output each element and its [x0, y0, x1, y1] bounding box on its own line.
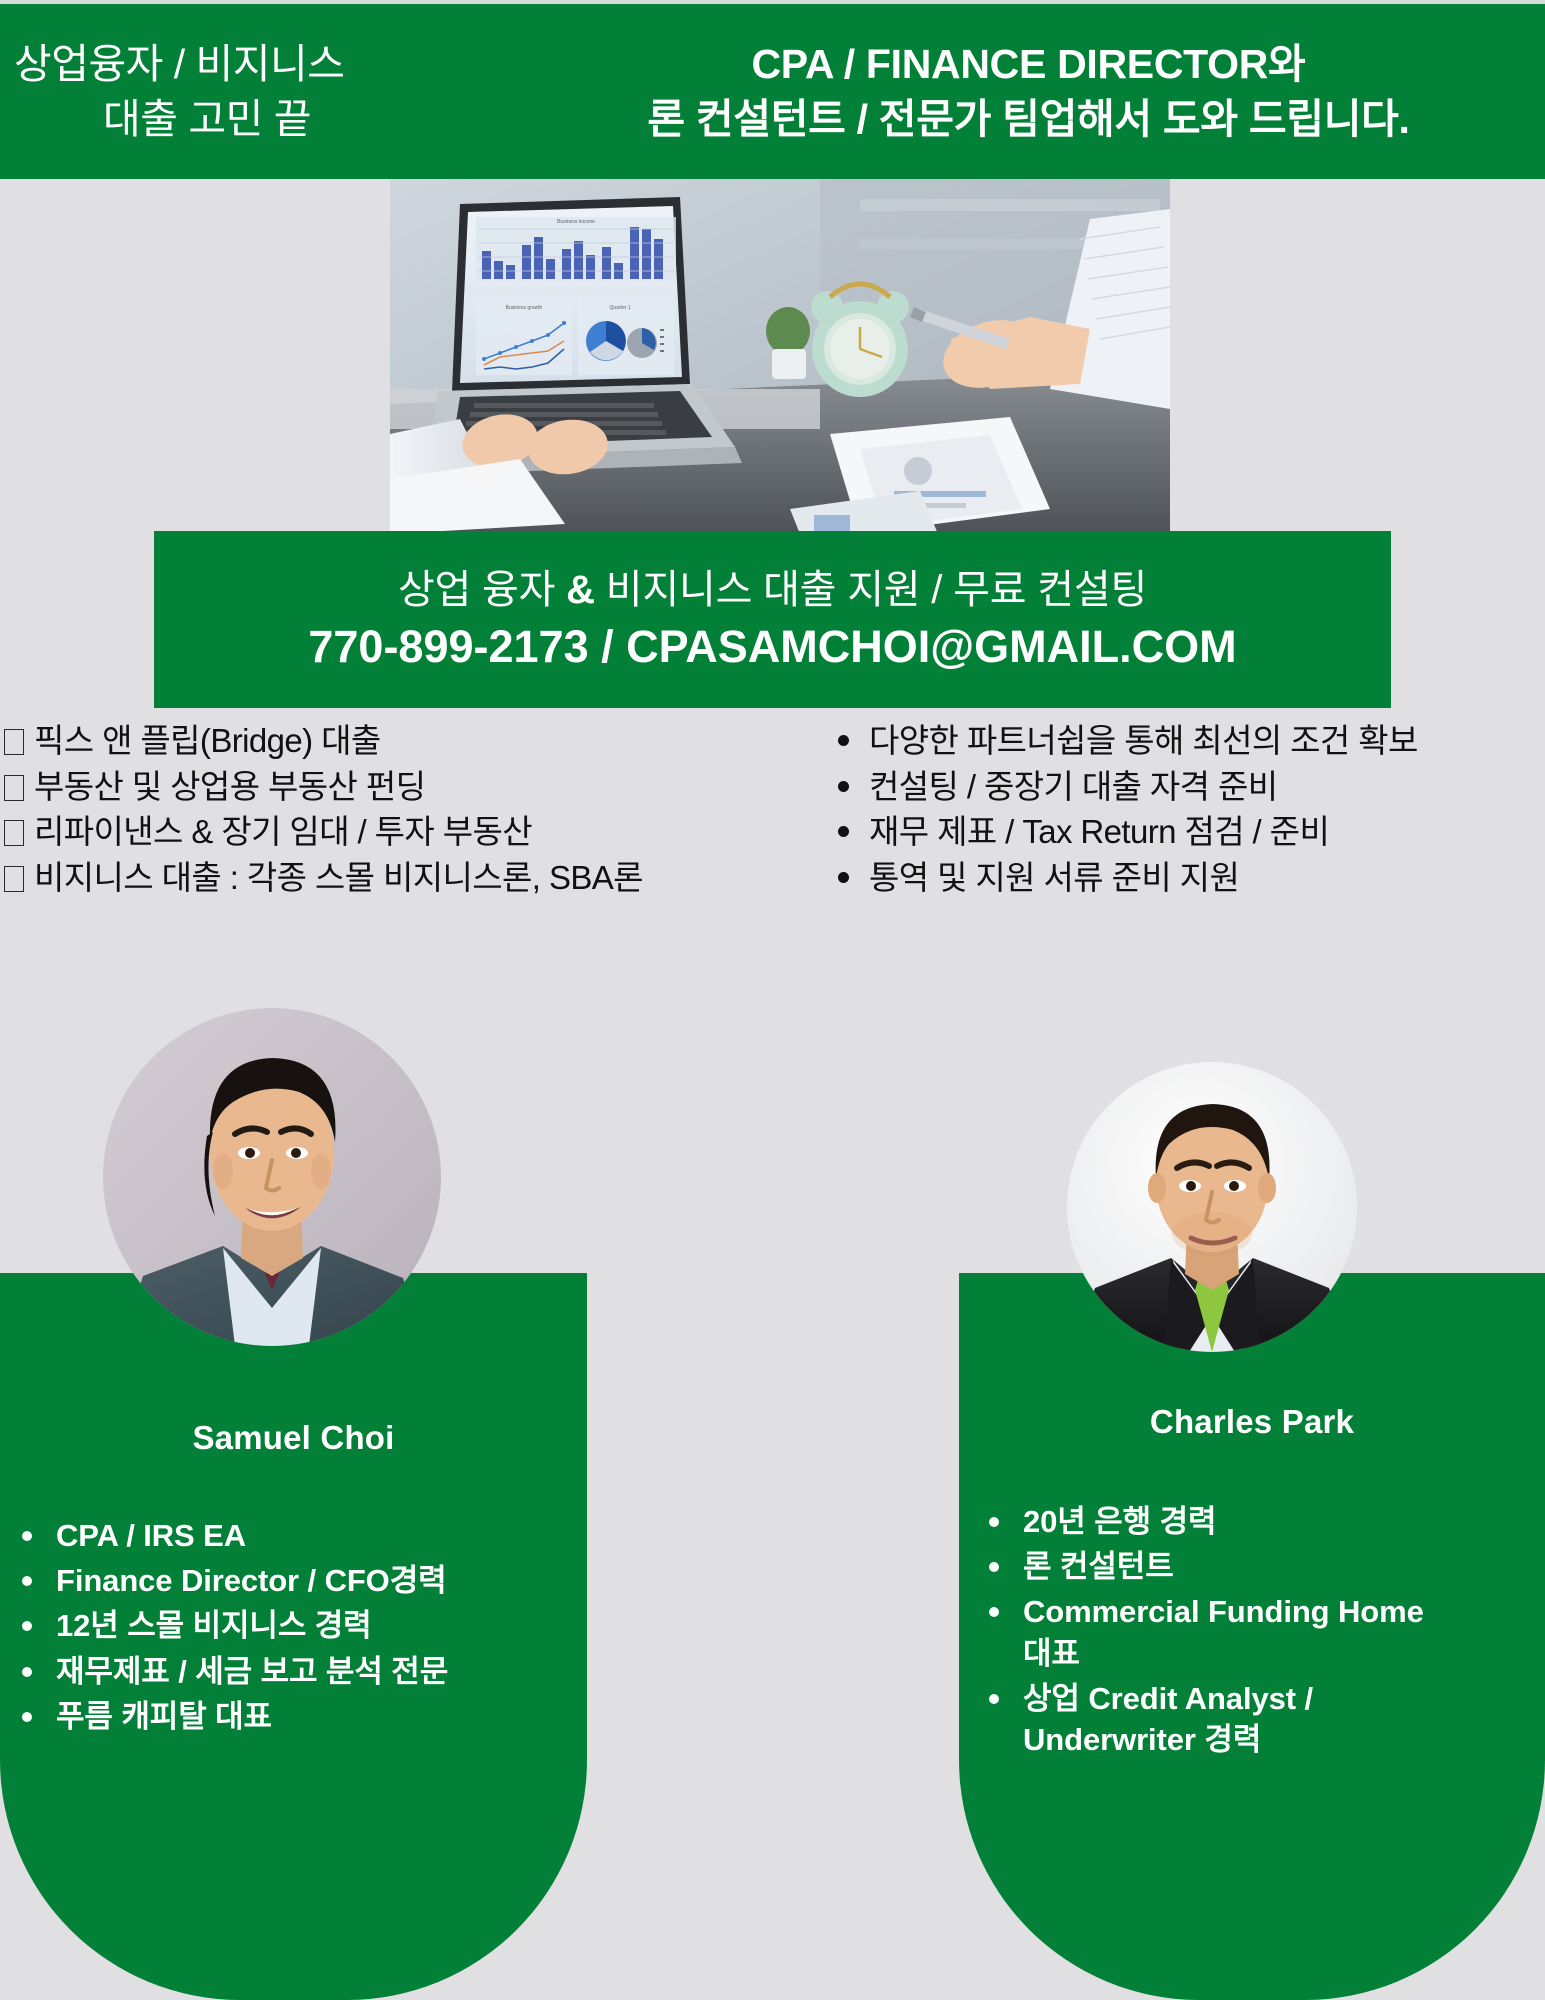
profile-bullet-label: 푸름 캐피탈 대표 — [56, 1696, 272, 1737]
avatar-illustration — [103, 1008, 441, 1346]
checkbox-marker-icon — [4, 729, 24, 755]
profile-bullet-label: 20년 은행 경력 — [1023, 1501, 1216, 1542]
contact-phone-email[interactable]: 770-899-2173 / CPASAMCHOI@GMAIL.COM — [308, 620, 1236, 674]
profile-bullet-label: 재무제표 / 세금 보고 분석 전문 — [56, 1651, 448, 1692]
feature-item-label: 컨설팅 / 중장기 대출 자격 준비 — [869, 764, 1278, 810]
contact-headline-amp: & — [566, 568, 595, 612]
avatar-charles-park — [1067, 1062, 1357, 1352]
header-right-line-1: CPA / FINANCE DIRECTOR와 — [520, 37, 1537, 92]
hero-photo: Business income Business growth Quarter … — [390, 179, 1170, 534]
profile-bullet-label: 12년 스몰 비지니스 경력 — [56, 1605, 372, 1646]
profile-bullet-label: Finance Director / CFO경력 — [56, 1560, 447, 1601]
header-left-headline: 상업융자 / 비지니스 대출 고민 끝 — [0, 37, 520, 146]
checkbox-marker-icon — [4, 866, 24, 892]
checkbox-marker-icon — [4, 820, 24, 846]
bullet-dot-icon — [22, 1667, 32, 1677]
svg-text:Business growth: Business growth — [506, 305, 543, 311]
profile-bullet-label: 상업 Credit Analyst / Underwriter 경력 — [1023, 1678, 1443, 1760]
feature-item: 리파이낸스 & 장기 임대 / 투자 부동산 — [4, 809, 790, 855]
profile-bullet: 상업 Credit Analyst / Underwriter 경력 — [989, 1678, 1545, 1760]
bullet-dot-icon — [838, 781, 849, 792]
profile-card-charles-park: Charles Park 20년 은행 경력 론 컨설턴트 Commercial… — [959, 1273, 1545, 2000]
profile-bullet-label: Commercial Funding Home 대표 — [1023, 1591, 1443, 1673]
contact-headline: 상업 융자 & 비지니스 대출 지원 / 무료 컨설팅 — [398, 566, 1147, 614]
feature-item: 비지니스 대출 : 각종 스몰 비지니스론, SBA론 — [4, 855, 790, 901]
profile-bullet-label: CPA / IRS EA — [56, 1515, 246, 1556]
contact-headline-suffix: 비지니스 대출 지원 / 무료 컨설팅 — [595, 568, 1147, 612]
bullet-dot-icon — [989, 1607, 999, 1617]
profile-bullet-label: 론 컨설턴트 — [1023, 1546, 1174, 1587]
header-right-line-2: 론 컨설턴트 / 전문가 팀업해서 도와 드립니다. — [520, 92, 1537, 147]
profile-bullet: Commercial Funding Home 대표 — [989, 1591, 1545, 1673]
bullet-dot-icon — [989, 1694, 999, 1704]
feature-item-label: 재무 제표 / Tax Return 점검 / 준비 — [869, 809, 1329, 855]
profile-bullet-list: CPA / IRS EA Finance Director / CFO경력 12… — [0, 1515, 587, 1741]
feature-item-label: 리파이낸스 & 장기 임대 / 투자 부동산 — [34, 809, 532, 855]
bullet-dot-icon — [838, 826, 849, 837]
svg-text:Business income: Business income — [557, 219, 595, 225]
bullet-dot-icon — [22, 1576, 32, 1586]
contact-banner: 상업 융자 & 비지니스 대출 지원 / 무료 컨설팅 770-899-2173… — [154, 531, 1391, 708]
bullet-dot-icon — [989, 1517, 999, 1527]
avatar-samuel-choi — [103, 1008, 441, 1346]
profile-bullet: 론 컨설턴트 — [989, 1546, 1545, 1587]
profile-bullet: CPA / IRS EA — [22, 1515, 587, 1556]
bullet-dot-icon — [989, 1562, 999, 1572]
feature-list-right: 다양한 파트너쉽을 통해 최선의 조건 확보 컨설팅 / 중장기 대출 자격 준… — [790, 718, 1545, 918]
profile-bullet: 재무제표 / 세금 보고 분석 전문 — [22, 1651, 587, 1692]
hero-photo-illustration: Business income Business growth Quarter … — [390, 179, 1170, 534]
feature-item-label: 부동산 및 상업용 부동산 펀딩 — [34, 764, 425, 810]
feature-item: 픽스 앤 플립(Bridge) 대출 — [4, 718, 790, 764]
profile-name: Samuel Choi — [0, 1419, 587, 1457]
feature-item: 컨설팅 / 중장기 대출 자격 준비 — [838, 764, 1545, 810]
bullet-dot-icon — [22, 1712, 32, 1722]
bullet-dot-icon — [22, 1621, 32, 1631]
feature-item: 재무 제표 / Tax Return 점검 / 준비 — [838, 809, 1545, 855]
bullet-dot-icon — [838, 735, 849, 746]
feature-lists: 픽스 앤 플립(Bridge) 대출 부동산 및 상업용 부동산 펀딩 리파이낸… — [0, 718, 1545, 918]
feature-item-label: 픽스 앤 플립(Bridge) 대출 — [34, 718, 381, 764]
avatar-illustration — [1067, 1062, 1357, 1352]
profile-name: Charles Park — [959, 1403, 1545, 1441]
profile-card-samuel-choi: Samuel Choi CPA / IRS EA Finance Directo… — [0, 1273, 587, 2000]
profile-bullet-list: 20년 은행 경력 론 컨설턴트 Commercial Funding Home… — [959, 1501, 1545, 1764]
feature-item: 통역 및 지원 서류 준비 지원 — [838, 855, 1545, 901]
header-left-line-1: 상업융자 / 비지니스 — [14, 37, 520, 92]
bullet-dot-icon — [838, 872, 849, 883]
contact-headline-prefix: 상업 융자 — [398, 568, 566, 612]
feature-list-left: 픽스 앤 플립(Bridge) 대출 부동산 및 상업용 부동산 펀딩 리파이낸… — [0, 718, 790, 918]
profile-bullet: 푸름 캐피탈 대표 — [22, 1696, 587, 1737]
profile-bullet: 12년 스몰 비지니스 경력 — [22, 1605, 587, 1646]
feature-item: 다양한 파트너쉽을 통해 최선의 조건 확보 — [838, 718, 1545, 764]
profile-bullet: Finance Director / CFO경력 — [22, 1560, 587, 1601]
profile-bullet: 20년 은행 경력 — [989, 1501, 1545, 1542]
feature-item-label: 통역 및 지원 서류 준비 지원 — [869, 855, 1239, 901]
feature-item: 부동산 및 상업용 부동산 펀딩 — [4, 764, 790, 810]
bullet-dot-icon — [22, 1531, 32, 1541]
header-right-headline: CPA / FINANCE DIRECTOR와 론 컨설턴트 / 전문가 팀업해… — [520, 37, 1545, 146]
feature-item-label: 다양한 파트너쉽을 통해 최선의 조건 확보 — [869, 718, 1418, 764]
svg-text:Quarter 1: Quarter 1 — [609, 305, 630, 311]
header-left-line-2: 대출 고민 끝 — [14, 92, 520, 147]
checkbox-marker-icon — [4, 775, 24, 801]
feature-item-label: 비지니스 대출 : 각종 스몰 비지니스론, SBA론 — [34, 855, 643, 901]
header-banner: 상업융자 / 비지니스 대출 고민 끝 CPA / FINANCE DIRECT… — [0, 4, 1545, 179]
